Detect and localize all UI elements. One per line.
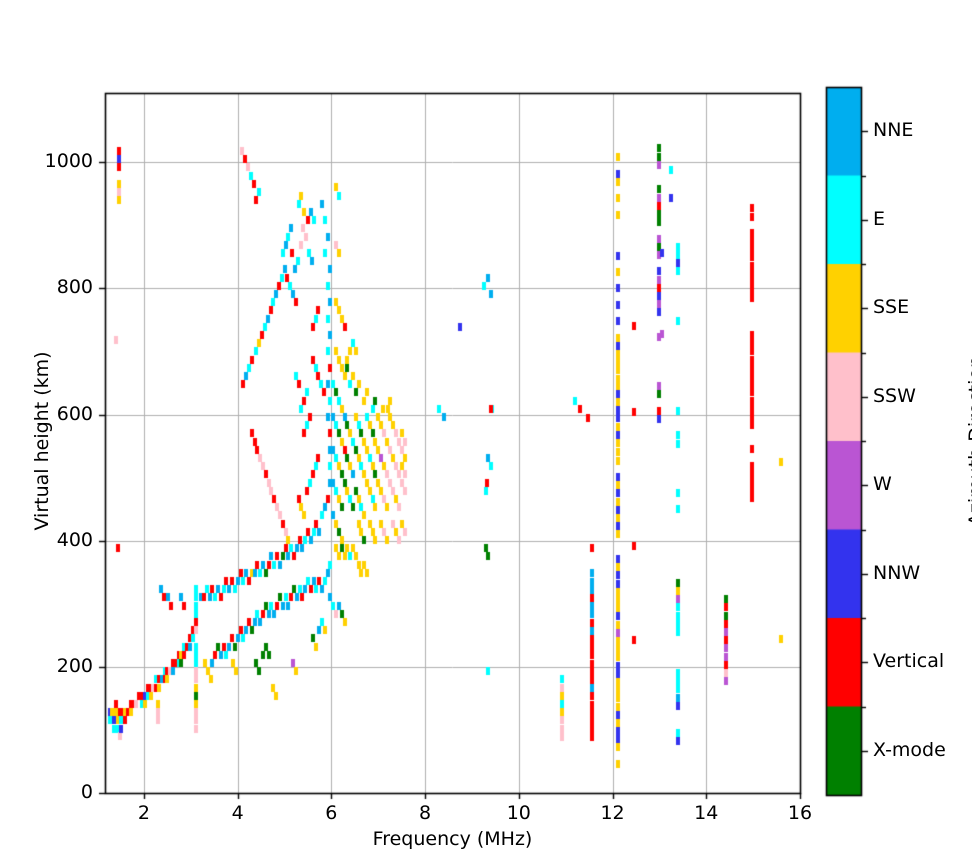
x-tick-label: 2 <box>114 802 174 824</box>
x-tick-label: 4 <box>208 802 268 824</box>
y-tick-label: 0 <box>21 781 93 803</box>
x-axis-label: Frequency (MHz) <box>105 828 800 850</box>
x-tick-label: 14 <box>676 802 736 824</box>
colorbar-tick-label-ssw: SSW <box>873 385 972 407</box>
x-tick-label: 8 <box>395 802 455 824</box>
y-tick-label: 600 <box>21 403 93 425</box>
y-tick-label: 200 <box>21 655 93 677</box>
y-tick-label: 400 <box>21 529 93 551</box>
colorbar-tick-label-sse: SSE <box>873 296 972 318</box>
colorbar-tick-label-e: E <box>873 208 972 230</box>
colorbar-tick-label-vertical: Vertical <box>873 650 972 672</box>
y-tick-label: 1000 <box>21 150 93 172</box>
ionogram-plot <box>0 0 972 865</box>
ionogram-page: NAL CADI - Apr 20 16:15:00 2025 UTC Freq… <box>0 0 972 865</box>
colorbar-axis-label: Azimuth Direction <box>965 291 972 591</box>
colorbar-tick-label-nnw: NNW <box>873 562 972 584</box>
colorbar-tick-label-w: W <box>873 473 972 495</box>
x-tick-label: 12 <box>583 802 643 824</box>
x-tick-label: 6 <box>301 802 361 824</box>
colorbar-tick-label-nne: NNE <box>873 119 972 141</box>
colorbar-tick-label-x-mode: X-mode <box>873 739 972 761</box>
y-tick-label: 800 <box>21 276 93 298</box>
x-tick-label: 10 <box>489 802 549 824</box>
x-tick-label: 16 <box>770 802 830 824</box>
